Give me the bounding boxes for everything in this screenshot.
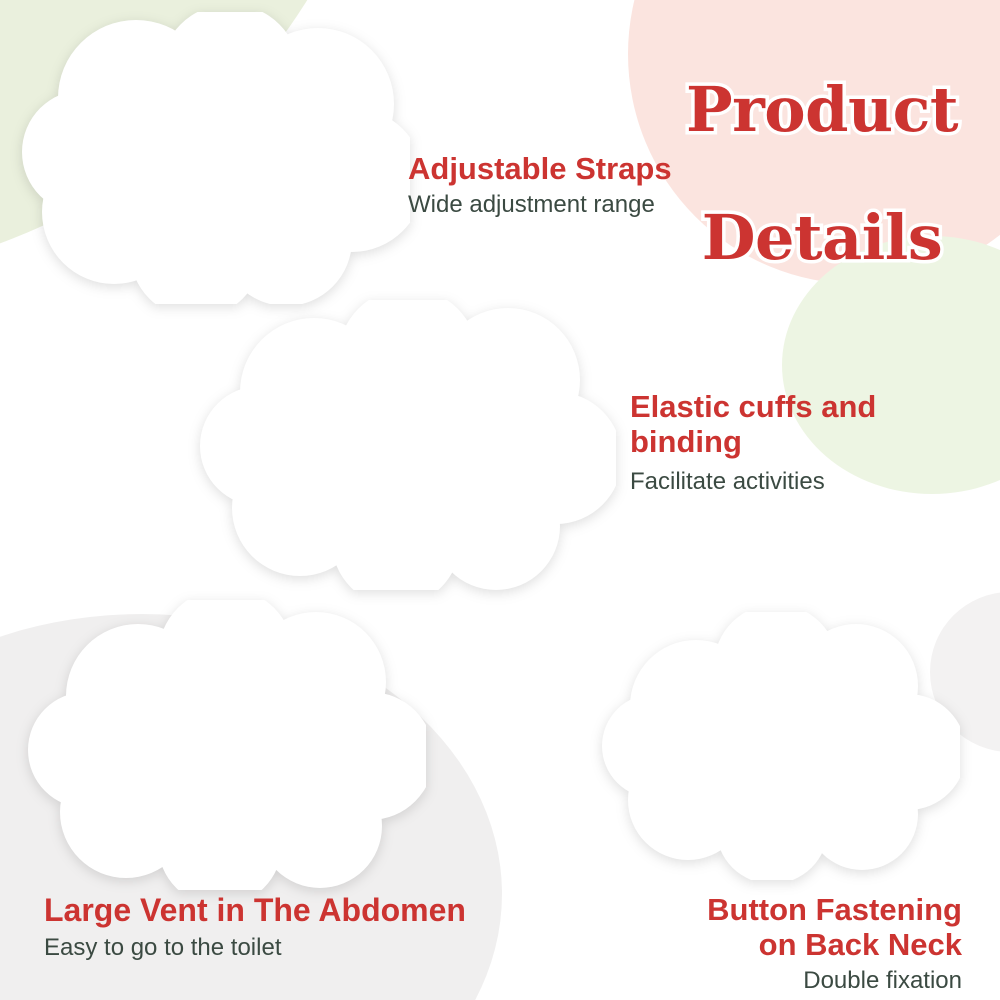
- feature-photo-adjustable-straps[interactable]: [18, 12, 410, 304]
- feature-subtitle-elastic-cuffs: Facilitate activities: [630, 468, 876, 497]
- scallop-frame-border: [28, 600, 426, 890]
- feature-caption-adjustable-straps: Adjustable Straps Wide adjustment range: [408, 152, 672, 220]
- scallop-frame-border: [200, 300, 616, 590]
- feature-title-button-fastening: Button Fastening on Back Neck: [618, 893, 962, 962]
- feature-title-large-vent: Large Vent in The Abdomen: [44, 893, 466, 929]
- feature-subtitle-button-fastening: Double fixation: [618, 967, 962, 996]
- feature-subtitle-adjustable-straps: Wide adjustment range: [408, 191, 672, 220]
- scallop-frame-border: [22, 12, 410, 304]
- scallop-frame-border: [602, 612, 960, 880]
- feature-photo-elastic-cuffs[interactable]: [196, 300, 616, 590]
- feature-title-elastic-cuffs: Elastic cuffs and binding: [630, 390, 876, 459]
- feature-caption-button-fastening: Button Fastening on Back Neck Double fix…: [618, 893, 962, 996]
- feature-photo-button-fastening[interactable]: [600, 612, 960, 880]
- feature-caption-large-vent: Large Vent in The Abdomen Easy to go to …: [44, 893, 466, 963]
- page-title-line-1: Product: [650, 78, 994, 142]
- feature-title-adjustable-straps: Adjustable Straps: [408, 152, 672, 187]
- feature-caption-elastic-cuffs: Elastic cuffs and binding Facilitate act…: [630, 390, 876, 497]
- page-title: Product Details: [650, 14, 994, 333]
- infographic-canvas: Product Details Adjustable Straps Wide a…: [0, 0, 1000, 1000]
- feature-photo-large-vent[interactable]: [26, 600, 426, 890]
- feature-subtitle-large-vent: Easy to go to the toilet: [44, 934, 466, 963]
- page-title-line-2: Details: [650, 206, 994, 270]
